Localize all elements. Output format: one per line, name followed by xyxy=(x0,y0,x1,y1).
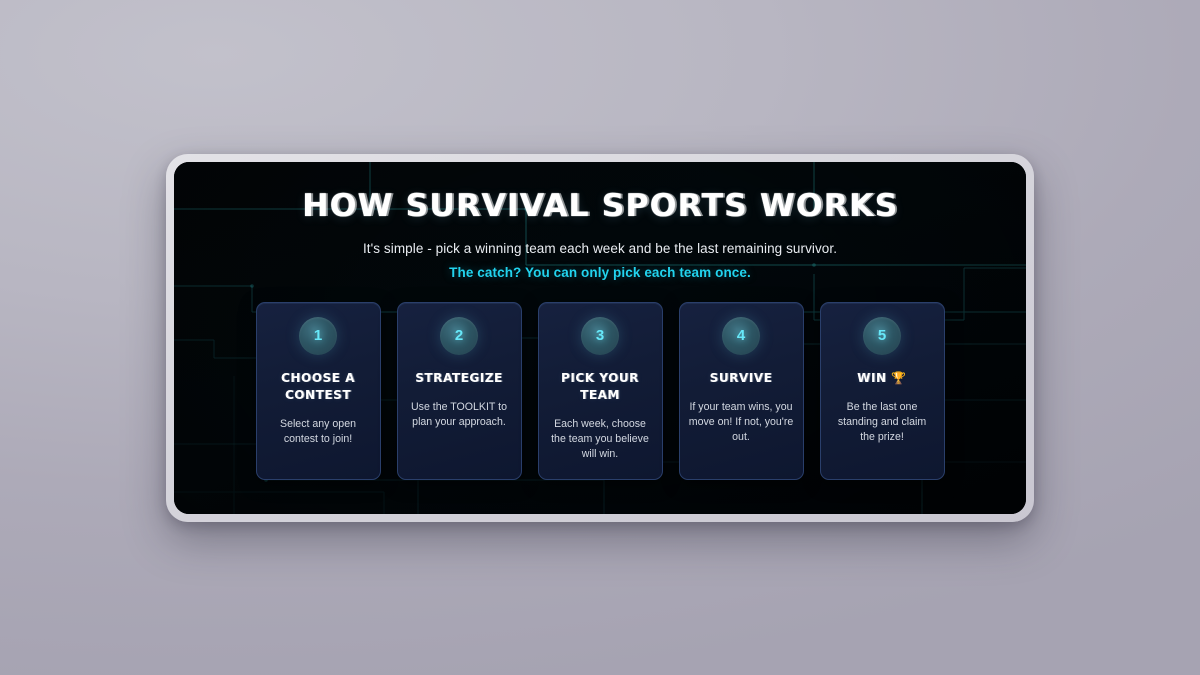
step-card-3[interactable]: 3 PICK YOUR TEAM Each week, choose the t… xyxy=(538,302,663,480)
steps-list: 1 CHOOSE A CONTEST Select any open conte… xyxy=(256,302,945,480)
step-description: If your team wins, you move on! If not, … xyxy=(680,400,803,446)
trophy-icon: 🏆 xyxy=(891,371,907,385)
step-card-2[interactable]: 2 STRATEGIZE Use the TOOLKIT to plan you… xyxy=(397,302,522,480)
step-title: WIN 🏆 xyxy=(850,370,914,387)
step-title: SURVIVE xyxy=(703,370,780,387)
step-title: PICK YOUR TEAM xyxy=(539,370,662,404)
step-title: CHOOSE A CONTEST xyxy=(257,370,380,404)
step-title: STRATEGIZE xyxy=(408,370,510,387)
hero-panel: HOW SURVIVAL SPORTS WORKS It's simple - … xyxy=(174,162,1026,514)
hero-catch-line: The catch? You can only pick each team o… xyxy=(449,265,751,280)
step-number-badge: 1 xyxy=(299,317,337,355)
step-number-badge: 4 xyxy=(722,317,760,355)
hero-lede: It's simple - pick a winning team each w… xyxy=(363,241,837,256)
step-card-5[interactable]: 5 WIN 🏆 Be the last one standing and cla… xyxy=(820,302,945,480)
step-description: Select any open contest to join! xyxy=(257,417,380,448)
step-description: Each week, choose the team you believe w… xyxy=(539,417,662,463)
step-number-badge: 5 xyxy=(863,317,901,355)
step-title-text: WIN xyxy=(857,371,886,385)
step-card-4[interactable]: 4 SURVIVE If your team wins, you move on… xyxy=(679,302,804,480)
step-card-1[interactable]: 1 CHOOSE A CONTEST Select any open conte… xyxy=(256,302,381,480)
step-number-badge: 2 xyxy=(440,317,478,355)
device-frame: HOW SURVIVAL SPORTS WORKS It's simple - … xyxy=(166,154,1034,522)
page-title: HOW SURVIVAL SPORTS WORKS xyxy=(302,188,898,224)
step-description: Be the last one standing and claim the p… xyxy=(821,400,944,446)
step-number-badge: 3 xyxy=(581,317,619,355)
hero-content: HOW SURVIVAL SPORTS WORKS It's simple - … xyxy=(174,162,1026,514)
step-description: Use the TOOLKIT to plan your approach. xyxy=(398,400,521,431)
